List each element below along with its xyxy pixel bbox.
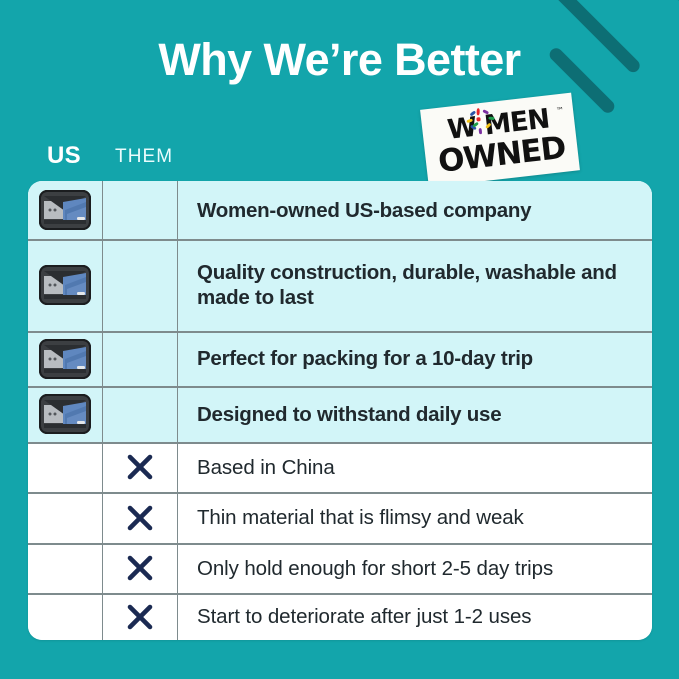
table-row: Women-owned US-based company bbox=[28, 181, 652, 239]
cell-us bbox=[28, 181, 103, 239]
confetti-piece bbox=[476, 117, 480, 121]
x-icon bbox=[125, 553, 155, 583]
packing-cube-icon bbox=[39, 190, 91, 230]
cell-feature-text: Based in China bbox=[178, 442, 652, 492]
cell-feature-text: Women-owned US-based company bbox=[178, 181, 652, 239]
confetti-piece bbox=[482, 109, 489, 114]
comparison-table: Women-owned US-based companyQuality cons… bbox=[28, 181, 652, 640]
feature-label: Based in China bbox=[197, 455, 335, 480]
cell-them bbox=[103, 442, 178, 492]
table-row: Thin material that is flimsy and weak bbox=[28, 492, 652, 543]
cell-them bbox=[103, 386, 178, 442]
diagonal-stripe-1 bbox=[592, 0, 679, 20]
table-row: Only hold enough for short 2-5 day trips bbox=[28, 543, 652, 593]
cell-us bbox=[28, 492, 103, 543]
cell-feature-text: Quality construction, durable, washable … bbox=[178, 239, 652, 331]
cell-feature-text: Start to deteriorate after just 1-2 uses bbox=[178, 593, 652, 640]
confetti-piece bbox=[470, 110, 477, 116]
cell-us bbox=[28, 386, 103, 442]
cell-us bbox=[28, 331, 103, 386]
cell-feature-text: Thin material that is flimsy and weak bbox=[178, 492, 652, 543]
feature-label: Perfect for packing for a 10-day trip bbox=[197, 346, 533, 371]
trademark-symbol: ™ bbox=[556, 106, 565, 116]
column-header-us: US bbox=[47, 142, 81, 170]
cell-them bbox=[103, 239, 178, 331]
cell-them bbox=[103, 593, 178, 640]
feature-label: Only hold enough for short 2-5 day trips bbox=[197, 556, 553, 581]
table-row: Based in China bbox=[28, 442, 652, 492]
page-title: Why We’re Better bbox=[0, 36, 679, 83]
cell-them bbox=[103, 492, 178, 543]
table-row: Quality construction, durable, washable … bbox=[28, 239, 652, 331]
confetti-piece bbox=[485, 123, 491, 129]
cell-us bbox=[28, 543, 103, 593]
packing-cube-icon bbox=[39, 265, 91, 305]
confetti-piece bbox=[477, 108, 480, 115]
confetti-piece bbox=[466, 118, 473, 123]
feature-label: Start to deteriorate after just 1-2 uses bbox=[197, 604, 531, 629]
x-icon bbox=[125, 503, 155, 533]
cell-them bbox=[103, 543, 178, 593]
table-row: Perfect for packing for a 10-day trip bbox=[28, 331, 652, 386]
table-row: Start to deteriorate after just 1-2 uses bbox=[28, 593, 652, 640]
feature-label: Thin material that is flimsy and weak bbox=[197, 505, 524, 530]
column-header-them: THEM bbox=[115, 146, 173, 168]
x-icon bbox=[125, 602, 155, 632]
cell-them bbox=[103, 331, 178, 386]
cell-them bbox=[103, 181, 178, 239]
cell-feature-text: Perfect for packing for a 10-day trip bbox=[178, 331, 652, 386]
packing-cube-icon bbox=[39, 339, 91, 379]
column-headers: US THEM bbox=[28, 142, 652, 174]
cell-feature-text: Designed to withstand daily use bbox=[178, 386, 652, 442]
confetti-piece bbox=[479, 128, 483, 134]
cell-us bbox=[28, 442, 103, 492]
feature-label: Quality construction, durable, washable … bbox=[197, 260, 638, 310]
feature-label: Designed to withstand daily use bbox=[197, 402, 501, 427]
table-row: Designed to withstand daily use bbox=[28, 386, 652, 442]
diagonal-stripe-2 bbox=[622, 0, 679, 40]
cell-us bbox=[28, 593, 103, 640]
cell-feature-text: Only hold enough for short 2-5 day trips bbox=[178, 543, 652, 593]
packing-cube-icon bbox=[39, 394, 91, 434]
cell-us bbox=[28, 239, 103, 331]
feature-label: Women-owned US-based company bbox=[197, 198, 531, 223]
confetti-piece bbox=[488, 116, 494, 120]
confetti-burst-icon bbox=[465, 106, 498, 137]
x-icon bbox=[125, 452, 155, 482]
